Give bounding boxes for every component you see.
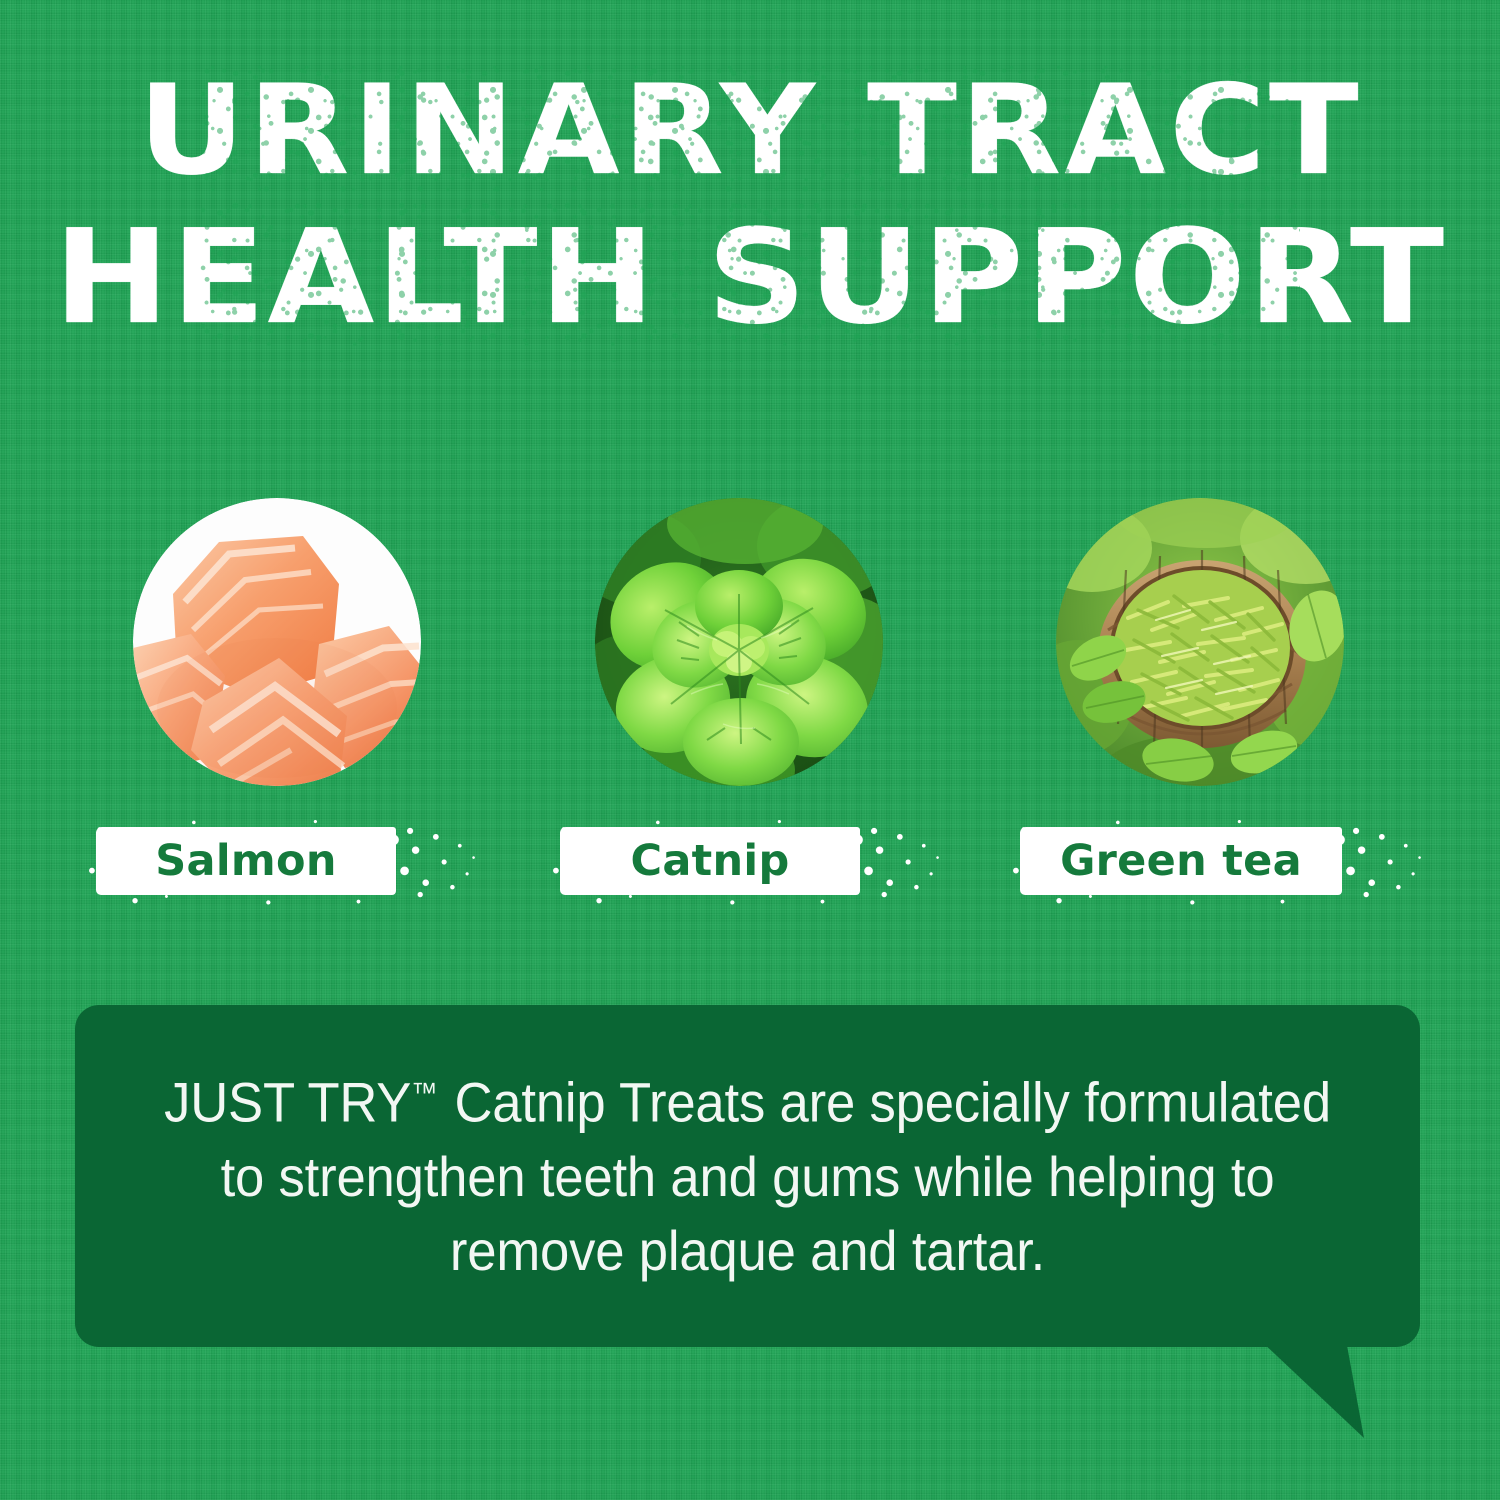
ingredient-image-catnip — [595, 498, 883, 786]
ingredient-label-salmon: Salmon — [88, 815, 476, 907]
ingredient-label-text: Green tea — [1020, 827, 1342, 895]
ingredient-label-catnip: Catnip — [552, 815, 940, 907]
ingredient-label-green-tea: Green tea — [1012, 815, 1422, 907]
headline-line-1: URINARY TRACT — [0, 58, 1500, 204]
product-feature-poster: URINARY TRACT HEALTH SUPPORT — [0, 0, 1500, 1500]
callout-bubble-tail — [1260, 1340, 1370, 1440]
brand-name: JUST TRY — [164, 1071, 411, 1134]
page-title: URINARY TRACT HEALTH SUPPORT — [0, 58, 1500, 350]
ingredient-label-text: Catnip — [560, 827, 860, 895]
trademark-symbol: ™ — [411, 1077, 437, 1108]
ingredient-image-salmon — [133, 498, 421, 786]
ingredient-image-green-tea — [1056, 498, 1344, 786]
headline-line-2: HEALTH SUPPORT — [0, 204, 1500, 350]
callout-description-text: JUST TRY™Catnip Treats are specially for… — [144, 1056, 1352, 1288]
ingredient-label-text: Salmon — [96, 827, 396, 895]
